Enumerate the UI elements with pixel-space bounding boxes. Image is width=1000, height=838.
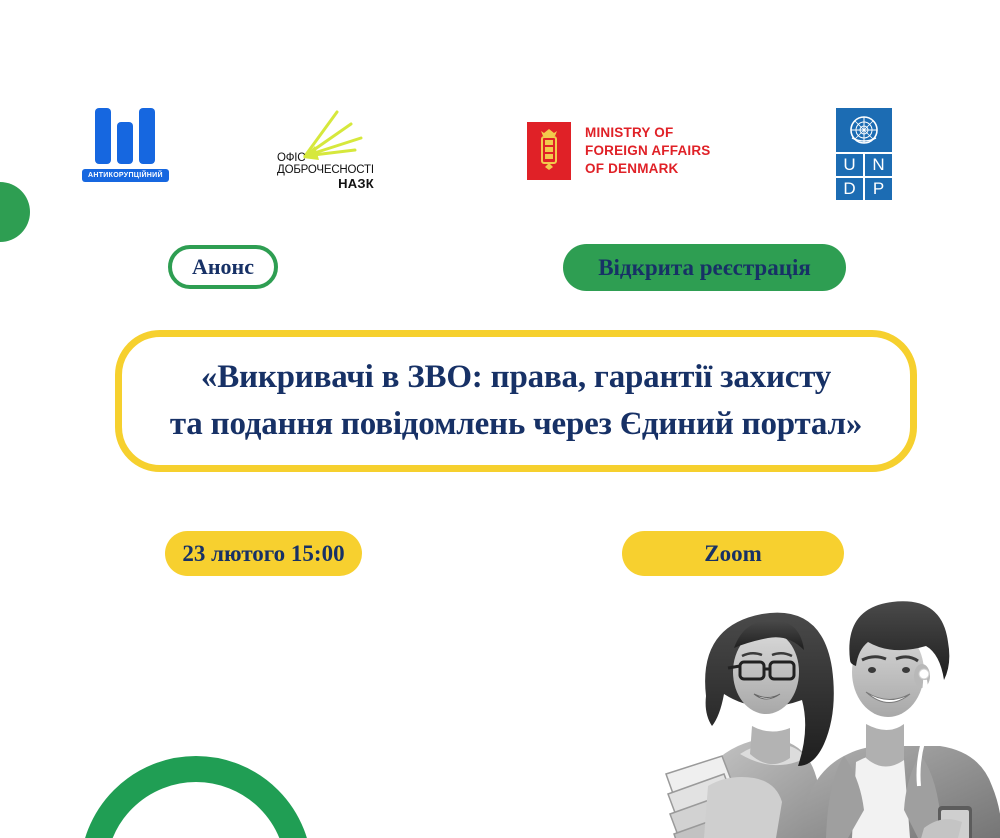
un-emblem-icon — [836, 108, 892, 152]
denmark-coat-of-arms-icon — [527, 122, 571, 180]
nazk-line-3: НАЗК — [277, 177, 374, 191]
undp-letter-p: P — [865, 178, 892, 200]
denmark-line-1: MINISTRY OF — [585, 124, 711, 142]
event-platform-badge[interactable]: Zoom — [622, 531, 844, 576]
partner-logo-strip: АНТИКОРУПЦІЙНИЙ ОФІС ДОБРОЧЕСНОСТІ — [0, 50, 1000, 150]
denmark-line-3: OF DENMARK — [585, 160, 711, 178]
undp-logo: U N D P — [836, 108, 892, 200]
undp-letter-n: N — [865, 154, 892, 176]
green-ring-decoration — [80, 756, 312, 838]
event-title-line-2: та подання повідомлень через Єдиний порт… — [170, 401, 862, 448]
event-title-line-1: «Викривачі в ЗВО: права, гарантії захист… — [201, 354, 831, 401]
denmark-logo-text: MINISTRY OF FOREIGN AFFAIRS OF DENMARK — [585, 124, 711, 177]
undp-letter-d: D — [836, 178, 863, 200]
nazk-line-2: ДОБРОЧЕСНОСТІ — [277, 164, 374, 176]
announcement-badge[interactable]: Анонс — [168, 245, 278, 289]
anticorruption-bars-icon — [95, 108, 155, 164]
poster-canvas: АНТИКОРУПЦІЙНИЙ ОФІС ДОБРОЧЕСНОСТІ — [0, 0, 1000, 838]
nazk-line-1: ОФІС — [277, 152, 374, 164]
students-photo — [648, 576, 1000, 838]
undp-letter-u: U — [836, 154, 863, 176]
anticorruption-badge-label: АНТИКОРУПЦІЙНИЙ — [82, 169, 169, 182]
ministry-of-foreign-affairs-denmark-logo: MINISTRY OF FOREIGN AFFAIRS OF DENMARK — [527, 122, 711, 180]
anticorruption-logo: АНТИКОРУПЦІЙНИЙ — [82, 108, 169, 182]
event-date-badge[interactable]: 23 лютого 15:00 — [165, 531, 362, 576]
registration-open-badge[interactable]: Відкрита реєстрація — [563, 244, 846, 291]
green-circle-decoration — [0, 182, 30, 242]
office-of-integrity-nazk-logo: ОФІС ДОБРОЧЕСНОСТІ НАЗК — [275, 108, 393, 190]
denmark-line-2: FOREIGN AFFAIRS — [585, 142, 711, 160]
event-title-box: «Викривачі в ЗВО: права, гарантії захист… — [115, 330, 917, 472]
